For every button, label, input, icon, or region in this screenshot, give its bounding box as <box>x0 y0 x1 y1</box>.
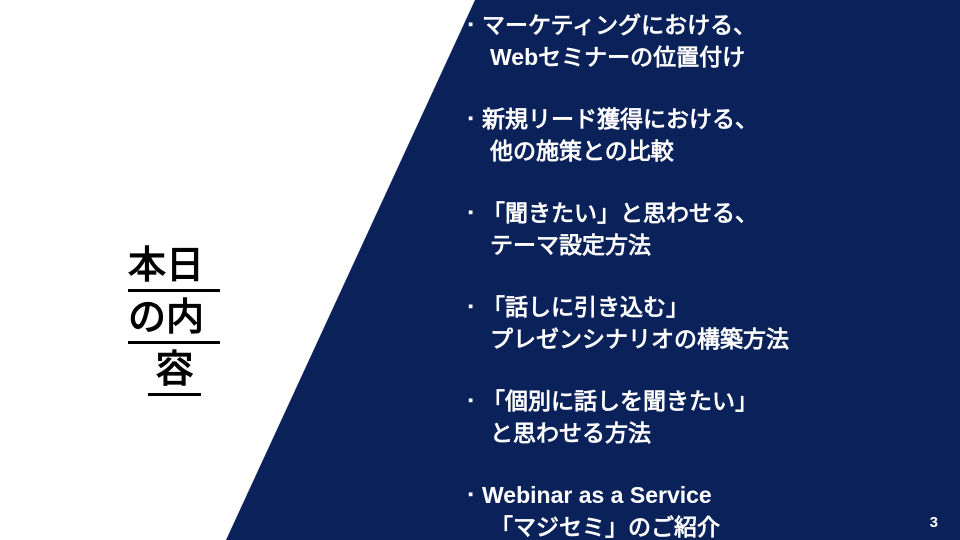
page-title-line-2: の内 <box>128 295 220 344</box>
square-bullet-icon: ▪ <box>468 102 482 136</box>
agenda-item-3-line-2: テーマ設定方法 <box>468 228 938 262</box>
list-item: ▪Webinar as a Service 「マジセミ」のご紹介 <box>468 478 938 540</box>
page-title-line-1: 本日 <box>128 243 220 292</box>
agenda-item-5-line-2: と思わせる方法 <box>468 416 938 450</box>
agenda-item-1-text-1: マーケティングにおける、 <box>482 12 756 38</box>
agenda-item-1-line-1: ▪マーケティングにおける、 <box>468 8 938 42</box>
agenda-item-4-text-1: 「話しに引き込む」 <box>482 294 689 320</box>
agenda-item-5-text-1: 「個別に話しを聞きたい」 <box>482 388 758 414</box>
square-bullet-icon: ▪ <box>468 384 482 418</box>
agenda-item-2-line-1: ▪新規リード獲得における、 <box>468 102 938 136</box>
agenda-item-2-line-2: 他の施策との比較 <box>468 134 938 168</box>
square-bullet-icon: ▪ <box>468 478 482 512</box>
page-title-line-3: 容 <box>148 347 201 396</box>
list-item: ▪「聞きたい」と思わせる、 テーマ設定方法 <box>468 196 938 262</box>
agenda-item-3-text-1: 「聞きたい」と思わせる、 <box>482 200 758 226</box>
list-item: ▪新規リード獲得における、 他の施策との比較 <box>468 102 938 168</box>
agenda-item-2-text-1: 新規リード獲得における、 <box>482 106 758 132</box>
agenda-item-4-line-1: ▪「話しに引き込む」 <box>468 290 938 324</box>
agenda-item-1-line-2: Webセミナーの位置付け <box>468 40 938 74</box>
list-item: ▪「個別に話しを聞きたい」 と思わせる方法 <box>468 384 938 450</box>
agenda-item-6-line-2: 「マジセミ」のご紹介 <box>468 510 938 540</box>
slide-canvas: 本日 の内 容 ▪マーケティングにおける、 Webセミナーの位置付け ▪新規リー… <box>0 0 960 540</box>
list-item: ▪マーケティングにおける、 Webセミナーの位置付け <box>468 8 938 74</box>
agenda-item-6-line-1: ▪Webinar as a Service <box>468 478 938 512</box>
square-bullet-icon: ▪ <box>468 290 482 324</box>
list-item: ▪「話しに引き込む」 プレゼンシナリオの構築方法 <box>468 290 938 356</box>
page-title: 本日 の内 容 <box>128 243 228 399</box>
slide-page-number: 3 <box>930 514 938 532</box>
agenda-item-5-line-1: ▪「個別に話しを聞きたい」 <box>468 384 938 418</box>
agenda-item-4-line-2: プレゼンシナリオの構築方法 <box>468 322 938 356</box>
agenda-item-6-text-1: Webinar as a Service <box>482 482 712 508</box>
square-bullet-icon: ▪ <box>468 8 482 42</box>
agenda-list: ▪マーケティングにおける、 Webセミナーの位置付け ▪新規リード獲得における、… <box>468 8 938 540</box>
agenda-item-3-line-1: ▪「聞きたい」と思わせる、 <box>468 196 938 230</box>
square-bullet-icon: ▪ <box>468 196 482 230</box>
